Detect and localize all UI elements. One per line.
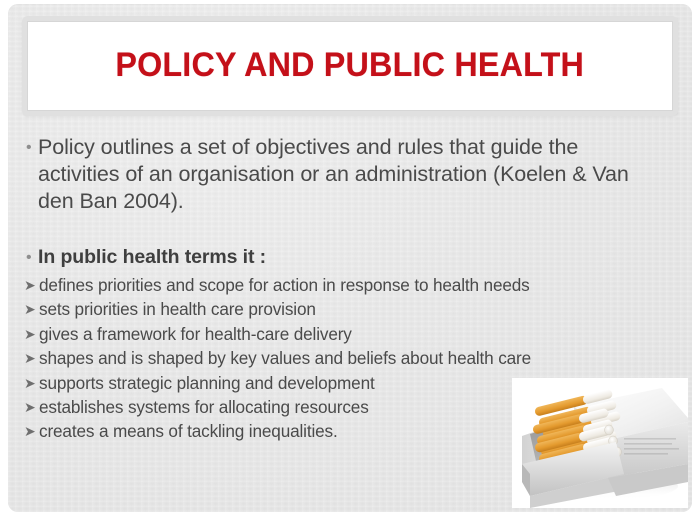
- arrow-bullet-icon: ➤: [22, 274, 39, 297]
- list-item: ➤ sets priorities in health care provisi…: [22, 298, 672, 321]
- list-item-label: gives a framework for health-care delive…: [39, 323, 672, 346]
- arrow-bullet-icon: ➤: [22, 420, 39, 443]
- intro-paragraph-row: • Policy outlines a set of objectives an…: [22, 134, 672, 215]
- list-item: ➤ shapes and is shaped by key values and…: [22, 347, 672, 370]
- title-box: POLICY AND PUBLIC HEALTH: [27, 21, 673, 111]
- intro-paragraph: Policy outlines a set of objectives and …: [38, 134, 638, 215]
- subheading-row: • In public health terms it :: [22, 244, 672, 271]
- arrow-bullet-icon: ➤: [22, 298, 39, 321]
- dot-bullet-icon: •: [22, 244, 38, 271]
- open-cigarette-pack-photo: [512, 378, 688, 508]
- dot-bullet-icon: •: [22, 134, 38, 161]
- list-item: ➤ gives a framework for health-care deli…: [22, 323, 672, 346]
- arrow-bullet-icon: ➤: [22, 347, 39, 370]
- arrow-bullet-icon: ➤: [22, 372, 39, 395]
- title-frame: POLICY AND PUBLIC HEALTH: [22, 16, 678, 116]
- arrow-bullet-icon: ➤: [22, 323, 39, 346]
- page-title: POLICY AND PUBLIC HEALTH: [116, 48, 585, 84]
- list-item-label: shapes and is shaped by key values and b…: [39, 347, 672, 370]
- list-item: ➤ defines priorities and scope for actio…: [22, 274, 672, 297]
- arrow-bullet-icon: ➤: [22, 396, 39, 419]
- list-item-label: sets priorities in health care provision: [39, 298, 672, 321]
- presentation-slide: POLICY AND PUBLIC HEALTH • Policy outlin…: [0, 0, 700, 525]
- list-item-label: defines priorities and scope for action …: [39, 274, 672, 297]
- subheading: In public health terms it :: [38, 244, 672, 270]
